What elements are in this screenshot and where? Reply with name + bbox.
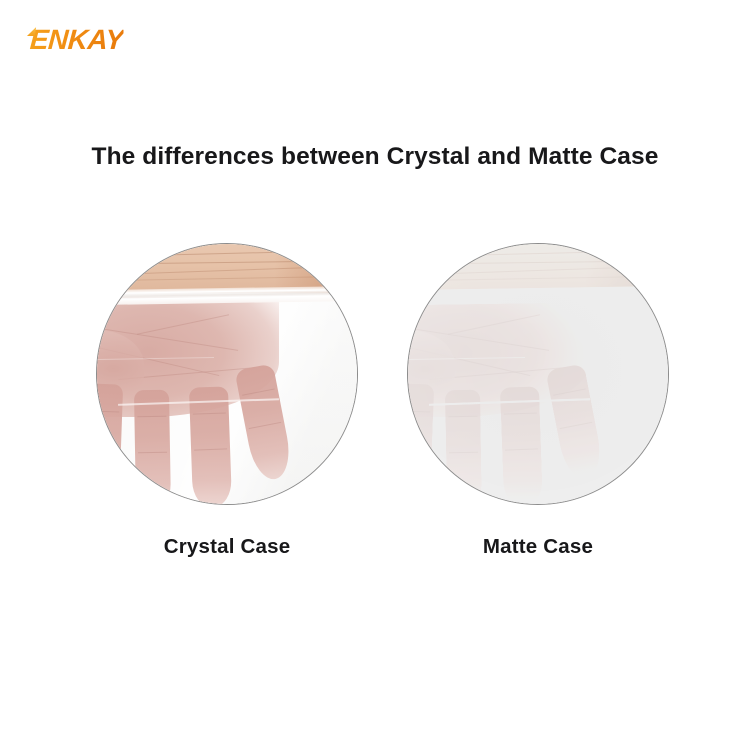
comparison-row: Crystal Case — [0, 243, 750, 583]
finger-shape — [445, 389, 482, 504]
brand-logo-enkay: ENKAY — [29, 26, 124, 54]
comparison-item-crystal: Crystal Case — [96, 243, 358, 505]
matte-case-photo — [407, 243, 669, 505]
finger-shape — [408, 384, 434, 504]
matte-case-scene — [408, 244, 668, 504]
caption-matte-case: Matte Case — [407, 535, 669, 559]
finger-shape — [500, 386, 543, 504]
crystal-case-photo — [96, 243, 358, 505]
page-title: The differences between Crystal and Matt… — [0, 143, 750, 171]
finger-shape — [189, 386, 232, 504]
product-infographic: ENKAY The differences between Crystal an… — [0, 0, 750, 750]
finger-shape — [97, 384, 123, 504]
comparison-item-matte: Matte Case — [407, 243, 669, 505]
finger-shape — [134, 389, 171, 504]
caption-crystal-case: Crystal Case — [96, 535, 358, 559]
crystal-case-scene — [97, 244, 357, 504]
